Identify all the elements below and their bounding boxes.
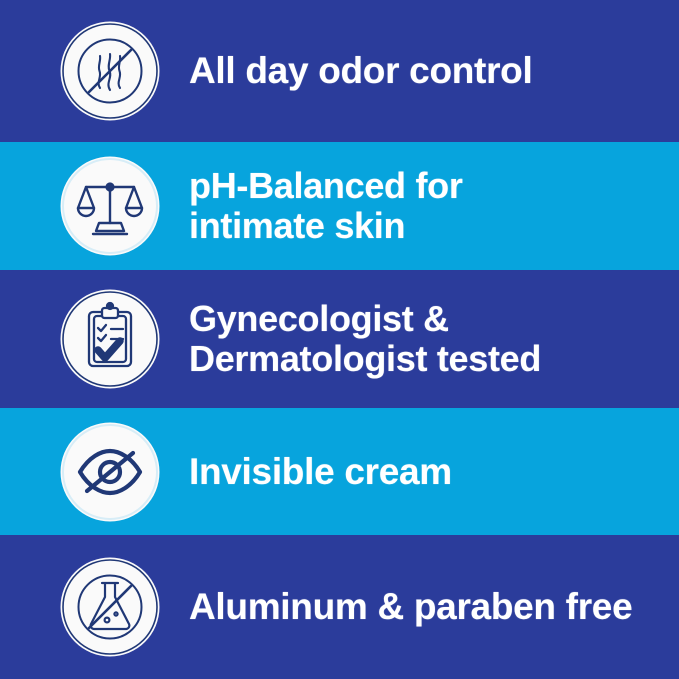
infographic-page: All day odor control pH-Bal xyxy=(0,0,679,679)
benefit-label-aluminum-paraben-free: Aluminum & paraben free xyxy=(189,586,632,627)
benefit-band-aluminum-paraben-free: Aluminum & paraben free xyxy=(0,535,679,679)
no-odor-icon xyxy=(57,18,163,124)
benefit-band-ph-balanced: pH-Balanced for intimate skin xyxy=(0,142,679,270)
benefit-band-odor-control: All day odor control xyxy=(0,0,679,142)
benefit-label-odor-control: All day odor control xyxy=(189,50,532,91)
benefit-label-invisible-cream: Invisible cream xyxy=(189,451,452,492)
balance-scale-icon xyxy=(57,153,163,259)
benefit-label-ph-balanced: pH-Balanced for intimate skin xyxy=(189,166,463,247)
benefit-label-tested: Gynecologist & Dermatologist tested xyxy=(189,299,541,380)
benefit-band-tested: Gynecologist & Dermatologist tested xyxy=(0,270,679,408)
no-flask-icon xyxy=(57,554,163,660)
eye-slash-icon xyxy=(57,419,163,525)
clipboard-check-icon xyxy=(57,286,163,392)
benefit-band-invisible-cream: Invisible cream xyxy=(0,408,679,535)
